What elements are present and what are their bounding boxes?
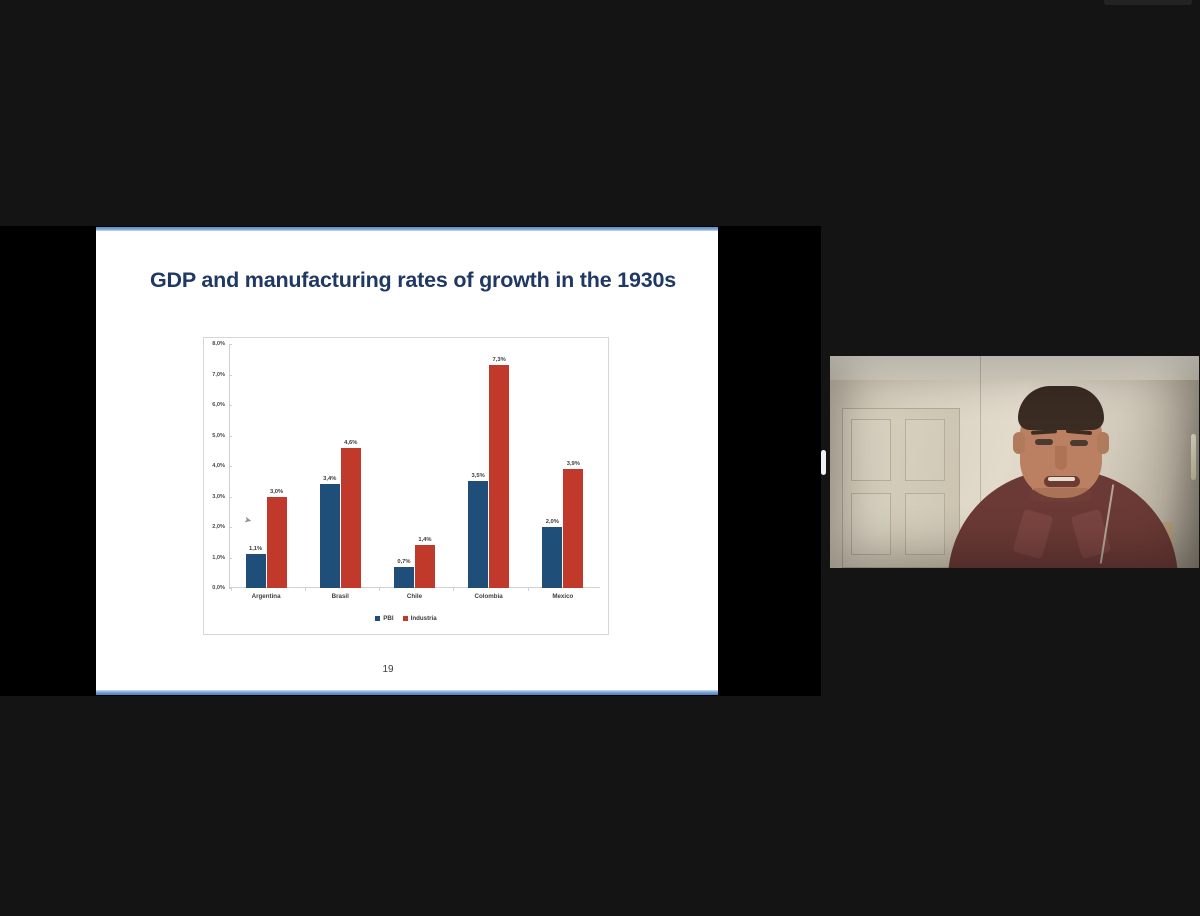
chart-bar: 0,7% (394, 567, 414, 588)
video-background-lamp (1191, 434, 1196, 480)
chart-plot-area: 0,0%1,0%2,0%3,0%4,0%5,0%6,0%7,0%8,0% 1,1… (229, 344, 600, 588)
y-axis-tick-label: 4,0% (212, 463, 229, 469)
chart-bar-value-label: 3,4% (323, 476, 336, 482)
chart-bar: 3,9% (563, 469, 583, 588)
chart-legend-swatch (403, 616, 408, 621)
chart-bar-slot: 4,6% (341, 344, 361, 588)
slide-page-number-value: 19 (382, 664, 393, 675)
chart-bar-slot: 3,4% (320, 344, 340, 588)
chart-category-group: 0,7%1,4%Chile (379, 344, 449, 588)
chart-bar-value-label: 7,3% (493, 357, 506, 363)
shared-slide[interactable]: GDP and manufacturing rates of growth in… (96, 227, 718, 695)
participant-ear-right (1097, 432, 1109, 454)
x-axis-category-label: Argentina (252, 593, 281, 600)
chart-bar-slot: 3,5% (468, 344, 488, 588)
participant-eye-right (1070, 440, 1088, 446)
chart-bar: 4,6% (341, 448, 361, 588)
chart-category-group: 2,0%3,9%Mexico (528, 344, 598, 588)
y-axis-tick-label: 0,0% (212, 585, 229, 591)
chart-bar: 7,3% (489, 365, 509, 588)
participant-eye-left (1035, 439, 1053, 445)
chart-bar-value-label: 1,4% (418, 537, 431, 543)
chart-bar-value-label: 0,7% (397, 559, 410, 565)
slide-bottom-rule (96, 690, 718, 695)
participant-nose (1055, 446, 1067, 470)
x-axis-tick-mark (453, 588, 454, 591)
chart-bar-value-label: 2,0% (546, 519, 559, 525)
chart-legend: PBIIndustria (204, 615, 608, 622)
chart-category-group: 3,5%7,3%Colombia (453, 344, 523, 588)
panel-resize-handle[interactable] (821, 450, 826, 475)
x-axis-tick-mark (528, 588, 529, 591)
y-axis-tick-label: 6,0% (212, 402, 229, 408)
x-axis-category-label: Brasil (332, 593, 349, 600)
chart-bar-groups: 1,1%3,0%Argentina3,4%4,6%Brasil0,7%1,4%C… (229, 344, 600, 588)
chart-bar-value-label: 1,1% (249, 546, 262, 552)
participant-ear-left (1013, 432, 1025, 454)
x-axis-tick-mark (305, 588, 306, 591)
participant-teeth (1048, 477, 1075, 481)
bar-chart: 0,0%1,0%2,0%3,0%4,0%5,0%6,0%7,0%8,0% 1,1… (203, 337, 609, 635)
chart-bar-slot: 1,4% (415, 344, 435, 588)
x-axis-tick-mark (379, 588, 380, 591)
page-title: GDP and manufacturing rates of growth in… (150, 268, 680, 293)
chart-legend-label: Industria (411, 615, 437, 622)
chart-bar: 2,0% (542, 527, 562, 588)
y-axis-tick-label: 3,0% (212, 494, 229, 500)
slide-top-rule (96, 227, 718, 231)
y-axis-tick-label: 7,0% (212, 372, 229, 378)
chart-bar-slot: 1,1% (246, 344, 266, 588)
participant-video-tile[interactable] (830, 356, 1199, 568)
stray-pointer-icon: ➤ (243, 514, 253, 526)
chart-bar-value-label: 3,5% (472, 473, 485, 479)
chart-bar-value-label: 4,6% (344, 440, 357, 446)
chart-category-group: 3,4%4,6%Brasil (305, 344, 375, 588)
chart-bar: 1,4% (415, 545, 435, 588)
x-axis-tick-mark (231, 588, 232, 591)
chart-bar-value-label: 3,9% (567, 461, 580, 467)
video-background-ceiling (830, 356, 1199, 380)
chart-bar-slot: 0,7% (394, 344, 414, 588)
y-axis-tick-label: 1,0% (212, 555, 229, 561)
participant-chin-shadow (1030, 488, 1092, 502)
chart-bar-slot: 2,0% (542, 344, 562, 588)
slide-page-number: 19 (96, 664, 718, 675)
chart-bar: 3,4% (320, 484, 340, 588)
y-axis-tick-label: 8,0% (212, 341, 229, 347)
chart-bar-value-label: 3,0% (270, 489, 283, 495)
toolbar-remnant (1104, 0, 1192, 5)
y-axis-tick-label: 2,0% (212, 524, 229, 530)
chart-bar-slot: 3,0% (267, 344, 287, 588)
chart-legend-item: PBI (375, 615, 393, 622)
chart-category-group: 1,1%3,0%Argentina (231, 344, 301, 588)
meeting-screen: GDP and manufacturing rates of growth in… (0, 0, 1200, 916)
chart-legend-swatch (375, 616, 380, 621)
x-axis-category-label: Chile (407, 593, 422, 600)
chart-bar-slot: 3,9% (563, 344, 583, 588)
video-background-cabinet (842, 408, 960, 568)
chart-bar: 3,5% (468, 481, 488, 588)
y-axis-tick-label: 5,0% (212, 433, 229, 439)
chart-bar-slot: 7,3% (489, 344, 509, 588)
chart-legend-label: PBI (383, 615, 393, 622)
participant-hair (1018, 386, 1104, 430)
chart-legend-item: Industria (403, 615, 437, 622)
x-axis-category-label: Mexico (552, 593, 573, 600)
x-axis-category-label: Colombia (475, 593, 503, 600)
chart-bar: 3,0% (267, 497, 287, 589)
chart-bar: 1,1% (246, 554, 266, 588)
